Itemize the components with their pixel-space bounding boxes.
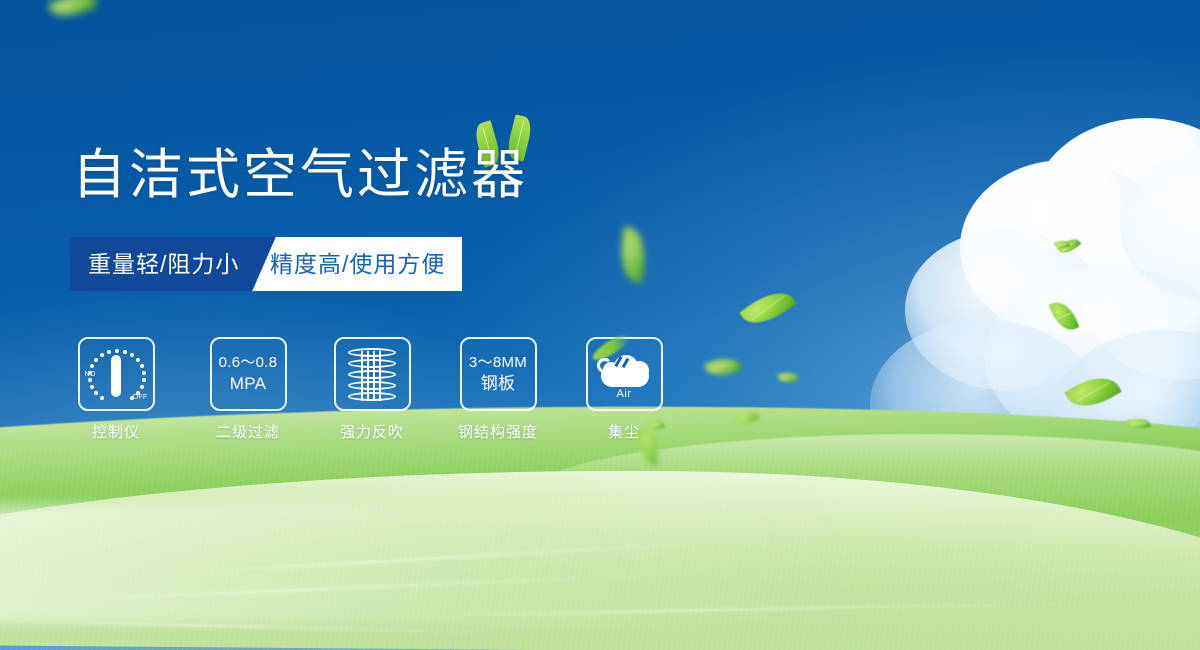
air-label: Air bbox=[588, 388, 661, 400]
product-banner: 自洁式空气过滤器 重量轻/阻力小 精度高/使用方便 bbox=[0, 0, 1200, 650]
feature-icon-box: 0.6～0.8 MPA bbox=[210, 337, 287, 411]
feature-label: 二级过滤 bbox=[202, 421, 294, 442]
feature-label: 钢结构强度 bbox=[452, 421, 544, 442]
filter-coil-icon bbox=[348, 348, 396, 404]
feature-icon-box bbox=[334, 337, 411, 411]
steel-text-icon: 3～8MM 钢板 bbox=[462, 339, 535, 409]
page-title: 自洁式空气过滤器 bbox=[72, 146, 528, 204]
pressure-unit: MPA bbox=[230, 373, 266, 394]
feature-item-strong-backblow[interactable]: 强力反吹 bbox=[326, 337, 418, 442]
feature-label: 控制仪 bbox=[70, 421, 162, 442]
steel-thickness: 3～8MM bbox=[469, 354, 527, 373]
gauge-needle bbox=[111, 355, 121, 397]
feature-item-two-stage-filter[interactable]: 0.6～0.8 MPA 二级过滤 bbox=[202, 337, 294, 442]
gauge-label-off: OFF bbox=[133, 394, 148, 401]
feature-badge: 重量轻/阻力小 精度高/使用方便 bbox=[70, 237, 462, 291]
feature-item-steel-strength[interactable]: 3～8MM 钢板 钢结构强度 bbox=[452, 337, 544, 442]
badge-right-text: 精度高/使用方便 bbox=[270, 237, 445, 291]
feature-icon-box: NO OFF bbox=[78, 337, 155, 411]
feature-item-controller[interactable]: NO OFF 控制仪 bbox=[70, 337, 162, 442]
air-cloud-icon: Air bbox=[588, 339, 661, 409]
feature-icon-box: Air bbox=[586, 337, 663, 411]
feature-icon-box: 3～8MM 钢板 bbox=[460, 337, 537, 411]
gauge-dial-icon: NO OFF bbox=[80, 339, 153, 409]
feature-label: 强力反吹 bbox=[326, 421, 418, 442]
pressure-text-icon: 0.6～0.8 MPA bbox=[212, 339, 285, 409]
cloud-body bbox=[601, 365, 649, 387]
steel-material: 钢板 bbox=[481, 373, 516, 394]
feature-item-dust-collection[interactable]: Air 集尘 bbox=[578, 337, 670, 442]
pressure-value: 0.6～0.8 bbox=[219, 354, 278, 373]
gauge-label-no: NO bbox=[85, 371, 96, 378]
feature-label: 集尘 bbox=[578, 421, 670, 442]
badge-left-text: 重量轻/阻力小 bbox=[88, 237, 239, 291]
